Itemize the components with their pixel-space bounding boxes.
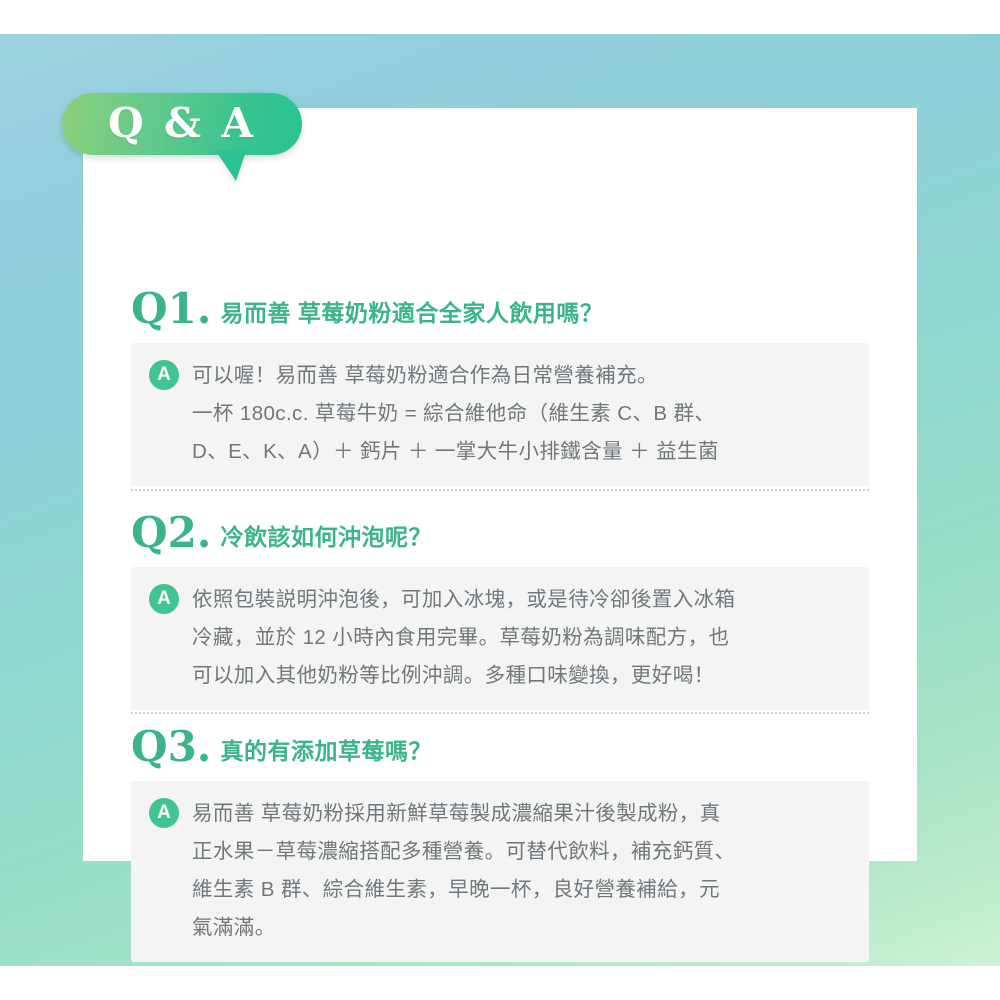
answer-line: 正水果－草莓濃縮搭配多種營養。可替代飲料，補充鈣質、 [192,835,851,868]
separator-1 [131,489,869,491]
question-text-2: 冷飲該如何沖泡呢？ [220,526,432,549]
question-text-1: 易而善 草莓奶粉適合全家人飲用嗎？ [220,302,603,325]
answer-line: 冷藏，並於 12 小時內食用完畢。草莓奶粉為調味配方，也 [192,621,851,654]
answer-lines-1: 可以喔！易而善 草莓奶粉適合作為日常營養補充。 一杯 180c.c. 草莓牛奶 … [192,359,851,468]
faq-item-2: Q2. 冷飲該如何沖泡呢？ A 依照包裝説明沖泡後，可加入冰塊，或是待冷卻後置入… [83,512,917,710]
question-number-1: Q1. [131,288,211,330]
qa-badge-label: Q & A [62,93,302,155]
answer-box-1: A 可以喔！易而善 草莓奶粉適合作為日常營養補充。 一杯 180c.c. 草莓牛… [131,343,869,486]
question-number-3: Q3. [131,726,211,768]
answer-line: 可以加入其他奶粉等比例沖調。多種口味變換，更好喝！ [192,659,851,692]
answer-lines-2: 依照包裝説明沖泡後，可加入冰塊，或是待冷卻後置入冰箱 冷藏，並於 12 小時內食… [192,583,851,692]
question-row-2: Q2. 冷飲該如何沖泡呢？ [83,512,917,554]
speech-bubble-tail-icon [216,151,246,181]
top-white-band [0,0,1000,34]
answer-line: 一杯 180c.c. 草莓牛奶 = 綜合維他命（維生素 C、B 群、 [192,397,851,430]
answer-lines-3: 易而善 草莓奶粉採用新鮮草莓製成濃縮果汁後製成粉，真 正水果－草莓濃縮搭配多種營… [192,797,851,944]
answer-badge-icon-3: A [149,798,179,828]
faq-item-1: Q1. 易而善 草莓奶粉適合全家人飲用嗎？ A 可以喔！易而善 草莓奶粉適合作為… [83,288,917,486]
faq-item-3: Q3. 真的有添加草莓嗎？ A 易而善 草莓奶粉採用新鮮草莓製成濃縮果汁後製成粉… [83,726,917,962]
answer-line: D、E、K、A）＋ 鈣片 ＋ 一掌大牛小排鐵含量 ＋ 益生菌 [192,435,851,468]
answer-box-3: A 易而善 草莓奶粉採用新鮮草莓製成濃縮果汁後製成粉，真 正水果－草莓濃縮搭配多… [131,781,869,962]
content-card: Q1. 易而善 草莓奶粉適合全家人飲用嗎？ A 可以喔！易而善 草莓奶粉適合作為… [83,108,917,861]
bottom-white-band [0,966,1000,1000]
question-row-1: Q1. 易而善 草莓奶粉適合全家人飲用嗎？ [83,288,917,330]
answer-line: 易而善 草莓奶粉採用新鮮草莓製成濃縮果汁後製成粉，真 [192,797,851,830]
qa-speech-bubble-badge: Q & A [62,93,302,155]
answer-line: 氣滿滿。 [192,911,851,944]
answer-badge-icon-2: A [149,584,179,614]
separator-2 [131,712,869,714]
question-number-2: Q2. [131,512,211,554]
question-row-3: Q3. 真的有添加草莓嗎？ [83,726,917,768]
answer-line: 維生素 B 群、綜合維生素，早晚一杯，良好營養補給，元 [192,873,851,906]
answer-line: 依照包裝説明沖泡後，可加入冰塊，或是待冷卻後置入冰箱 [192,583,851,616]
question-text-3: 真的有添加草莓嗎？ [220,740,432,763]
faq-page: Q1. 易而善 草莓奶粉適合全家人飲用嗎？ A 可以喔！易而善 草莓奶粉適合作為… [0,0,1000,1000]
answer-badge-icon-1: A [149,360,179,390]
answer-line: 可以喔！易而善 草莓奶粉適合作為日常營養補充。 [192,359,851,392]
answer-box-2: A 依照包裝説明沖泡後，可加入冰塊，或是待冷卻後置入冰箱 冷藏，並於 12 小時… [131,567,869,710]
